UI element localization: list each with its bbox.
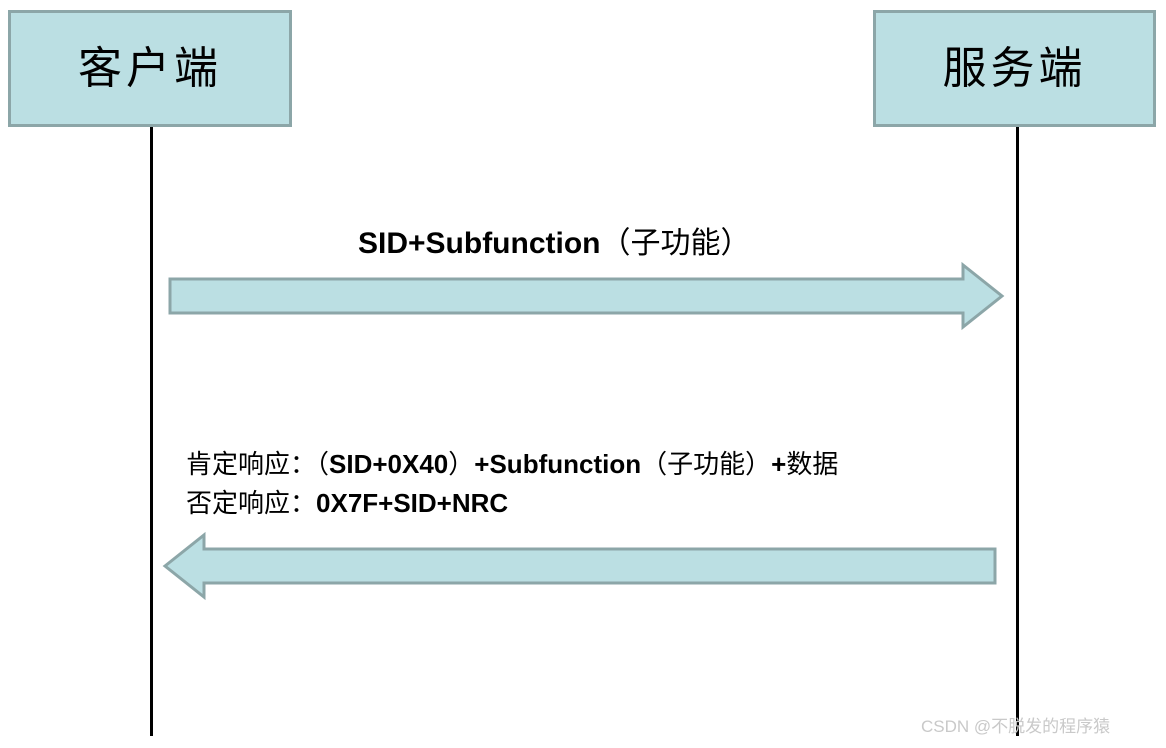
actor-label-client: 客户端 [78, 47, 222, 91]
arrow-left-icon [163, 533, 999, 599]
lifeline-server [1016, 127, 1019, 736]
actor-box-server: 服务端 [873, 10, 1156, 127]
message-label-request: SID+Subfunction（子功能） [358, 218, 751, 262]
sequence-diagram-canvas: 客户端 服务端 SID+Subfunction（子功能） 肯定响应：（SID+0… [0, 0, 1166, 748]
response-line1-part-2: SID+0X40 [329, 449, 448, 479]
lifeline-client [150, 127, 153, 736]
response-line1-part-4: +Subfunction [474, 449, 641, 479]
response-line1-part-5: （子功能） [641, 450, 771, 480]
response-line1-part-6: + [771, 449, 786, 479]
response-line1-part-3: ） [448, 450, 474, 480]
response-line1-part-7: 数据 [786, 450, 838, 480]
message-label-request-cjk: （子功能） [601, 226, 751, 261]
message-label-response-line-2: 否定响应：0X7F+SID+NRC [186, 484, 838, 523]
actor-box-client: 客户端 [8, 10, 292, 127]
arrow-right-icon [168, 263, 1004, 329]
response-line2-part-2: 0X7F+SID+NRC [316, 488, 508, 518]
response-line2-part-1: 否定响应： [186, 489, 316, 519]
message-label-response: 肯定响应：（SID+0X40）+Subfunction（子功能）+数据 否定响应… [186, 445, 838, 523]
message-label-request-latin: SID+Subfunction [358, 227, 601, 260]
actor-label-server: 服务端 [943, 47, 1087, 91]
watermark-text: CSDN @不脱发的程序猿 [921, 712, 1110, 737]
response-line1-part-1: 肯定响应：（ [186, 450, 329, 480]
message-label-response-line-1: 肯定响应：（SID+0X40）+Subfunction（子功能）+数据 [186, 445, 838, 484]
